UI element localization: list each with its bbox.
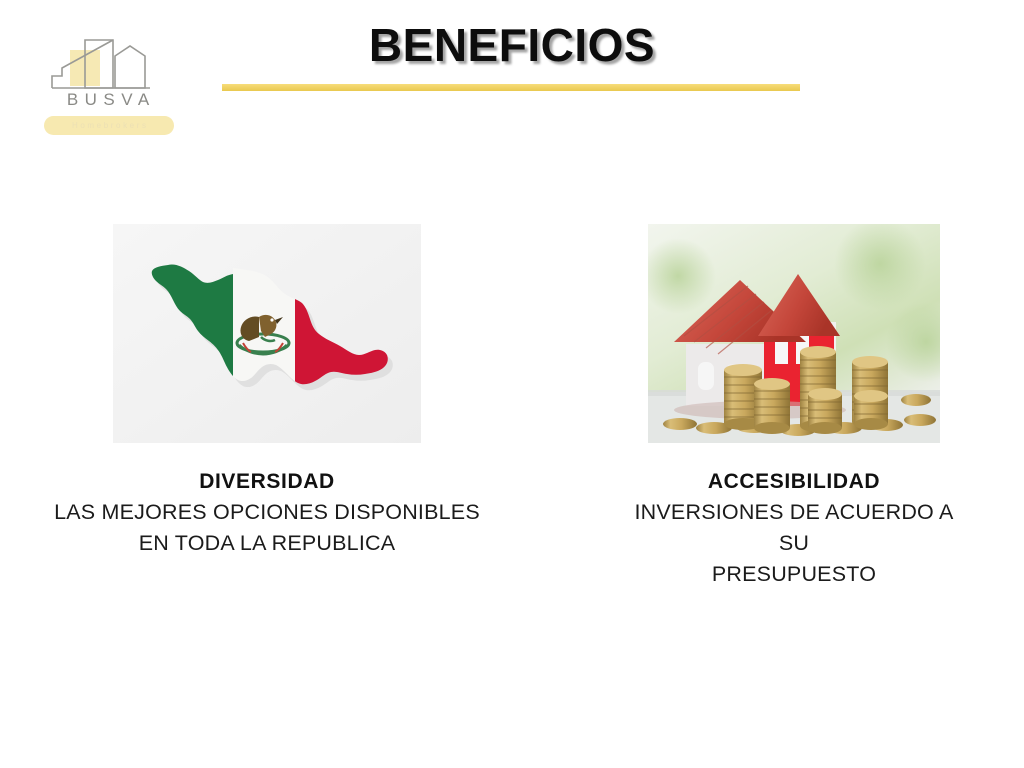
logo-tagline: Homebrokers [69, 121, 148, 130]
slide-canvas: BUSVA Homebrokers BENEFICIOS [0, 0, 1024, 768]
benefit-caption-accesibilidad: ACCESIBILIDAD INVERSIONES DE ACUERDO A S… [626, 467, 962, 590]
page-title: BENEFICIOS [0, 18, 1024, 72]
benefit-caption-diversidad: DIVERSIDAD LAS MEJORES OPCIONES DISPONIB… [37, 467, 497, 559]
logo-wordmark: BUSVA [38, 90, 178, 110]
title-underline-rule [222, 84, 800, 91]
house-model-with-coin-stacks-image [648, 224, 940, 443]
logo-tagline-pill: Homebrokers [44, 116, 174, 135]
mexico-map-flag-image [113, 224, 421, 443]
benefit-body-line-1: INVERSIONES DE ACUERDO A SU [626, 497, 962, 559]
benefit-body-line-2: EN TODA LA REPUBLICA [37, 528, 497, 559]
benefit-column-accesibilidad: ACCESIBILIDAD INVERSIONES DE ACUERDO A S… [648, 224, 940, 443]
benefit-title: ACCESIBILIDAD [626, 467, 962, 497]
benefit-body-line-1: LAS MEJORES OPCIONES DISPONIBLES [37, 497, 497, 528]
benefit-title: DIVERSIDAD [37, 467, 497, 497]
benefit-column-diversidad: DIVERSIDAD LAS MEJORES OPCIONES DISPONIB… [113, 224, 421, 443]
benefit-body-line-2: PRESUPUESTO [626, 559, 962, 590]
